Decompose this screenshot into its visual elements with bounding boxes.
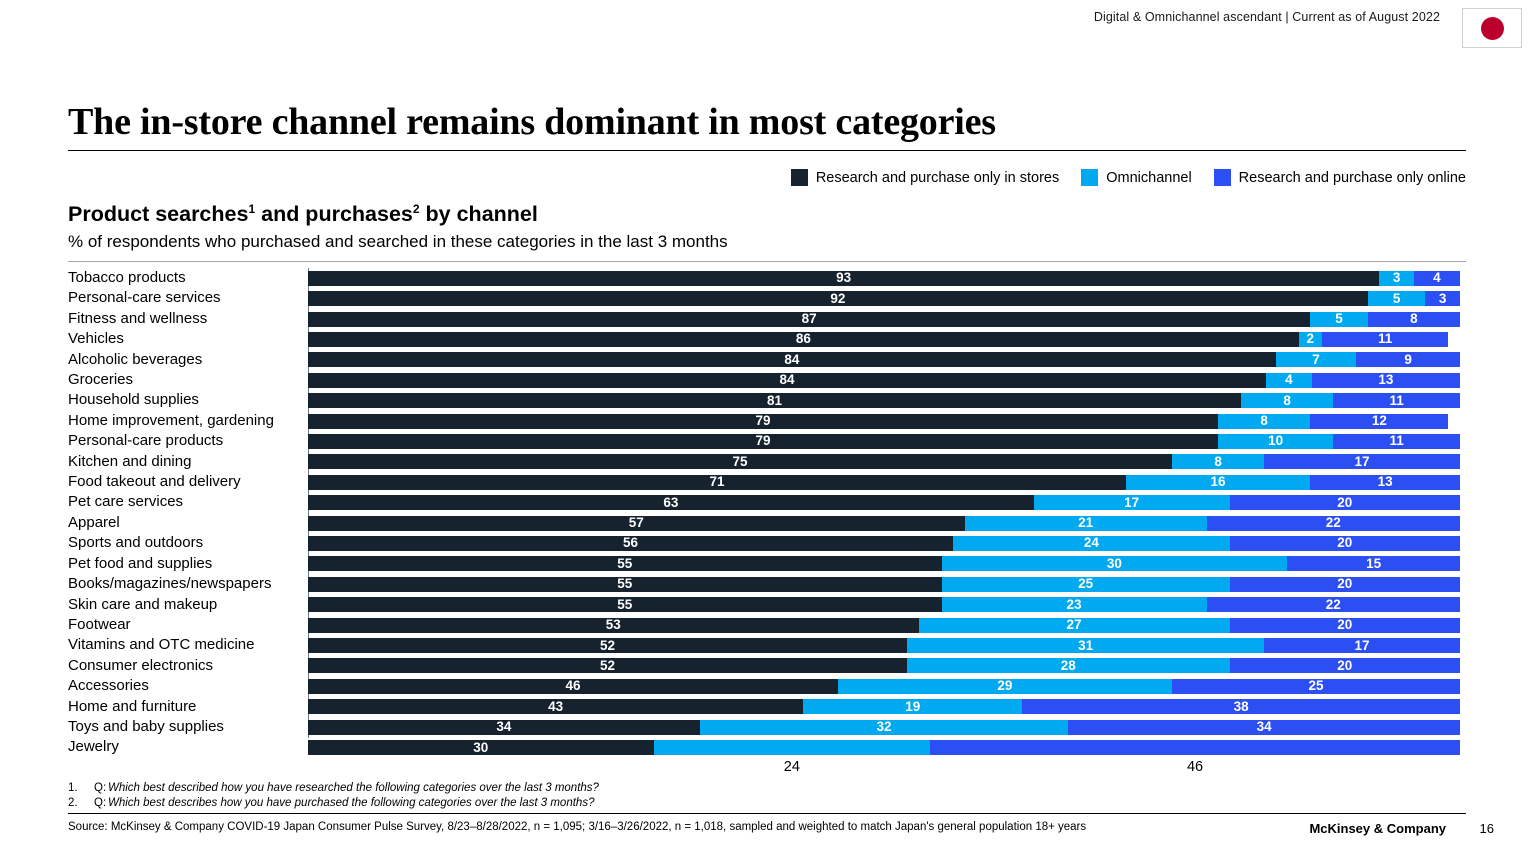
bar-segment-omni[interactable]: 8 xyxy=(1172,454,1264,469)
bar-value-label: 29 xyxy=(995,679,1014,693)
bar-segment-online[interactable]: 17 xyxy=(1264,638,1460,653)
bar-value-label: 4 xyxy=(1431,271,1443,285)
category-label: Apparel xyxy=(68,513,300,533)
bar-segment-omni[interactable]: 19 xyxy=(803,699,1022,714)
subtitle-part-2: and purchases xyxy=(255,202,413,226)
bar-segment-stores[interactable]: 71 xyxy=(308,475,1126,490)
chart-legend: Research and purchase only in storesOmni… xyxy=(791,169,1466,186)
bar-row[interactable]: 572122 xyxy=(308,513,1460,533)
bar-row[interactable]: 711613 xyxy=(308,472,1460,492)
bar-segment-stores[interactable]: 46 xyxy=(308,679,838,694)
bar-segment-online[interactable]: 20 xyxy=(1230,495,1460,510)
bar-value-label: 63 xyxy=(661,496,680,510)
bar-segment-online[interactable]: 13 xyxy=(1310,475,1460,490)
bar-segment-stores[interactable]: 75 xyxy=(308,454,1172,469)
legend-label: Research and purchase only online xyxy=(1239,170,1466,186)
bar-value-label: 5 xyxy=(1391,292,1403,306)
bar-segment-stores[interactable]: 79 xyxy=(308,414,1218,429)
category-label: Pet care services xyxy=(68,492,300,512)
bar-value-label: 22 xyxy=(1324,598,1343,612)
bar-value-label: 8 xyxy=(1408,312,1420,326)
bar-value-label: 75 xyxy=(730,455,749,469)
bar-value-label: 15 xyxy=(1364,557,1383,571)
category-label: Books/magazines/newspapers xyxy=(68,574,300,594)
bar-value-label: 23 xyxy=(1065,598,1084,612)
bar-value-label: 11 xyxy=(1387,434,1405,448)
bar-value-label: 17 xyxy=(1353,639,1372,653)
bar-value-label: 46 xyxy=(1185,760,1205,774)
category-label: Food takeout and delivery xyxy=(68,472,300,492)
category-label: Skin care and makeup xyxy=(68,595,300,615)
stacked-bar-chart: Tobacco productsPersonal-care servicesFi… xyxy=(68,268,1466,758)
bar-segment-stores[interactable]: 84 xyxy=(308,373,1266,388)
bar-row[interactable]: 302446 xyxy=(308,737,1460,757)
bar-segment-online[interactable]: 9 xyxy=(1356,352,1460,367)
bar-row[interactable]: 431938 xyxy=(308,697,1460,717)
bar-row[interactable]: 552520 xyxy=(308,574,1460,594)
bar-segment-omni[interactable]: 32 xyxy=(700,720,1069,735)
bar-value-label: 3 xyxy=(1437,292,1449,306)
bar-segment-online[interactable]: 11 xyxy=(1333,434,1460,449)
bar-value-label: 52 xyxy=(598,659,617,673)
bar-segment-stores[interactable]: 30 xyxy=(308,740,654,755)
bar-row[interactable]: 552322 xyxy=(308,595,1460,615)
bar-value-label: 28 xyxy=(1059,659,1078,673)
bar-segment-omni[interactable]: 2 xyxy=(1299,332,1322,347)
bar-value-label: 3 xyxy=(1391,271,1403,285)
bar-row[interactable]: 9334 xyxy=(308,268,1460,288)
footnote-text: Which best described how you have resear… xyxy=(108,781,599,796)
bar-row[interactable]: 81811 xyxy=(308,390,1460,410)
bar-segment-online[interactable]: 22 xyxy=(1207,516,1460,531)
bar-segment-online[interactable]: 38 xyxy=(1022,699,1460,714)
bar-segment-online[interactable]: 46 xyxy=(930,740,1460,755)
bar-row[interactable]: 553015 xyxy=(308,554,1460,574)
bar-row[interactable]: 532720 xyxy=(308,615,1460,635)
bar-row[interactable]: 8479 xyxy=(308,350,1460,370)
legend-label: Research and purchase only in stores xyxy=(816,170,1059,186)
bar-value-label: 8 xyxy=(1212,455,1224,469)
bar-segment-omni[interactable]: 24 xyxy=(654,740,930,755)
bar-value-label: 84 xyxy=(782,353,801,367)
brand-label: McKinsey & Company xyxy=(1309,821,1446,836)
bar-segment-omni[interactable]: 31 xyxy=(907,638,1264,653)
bar-row[interactable]: 631720 xyxy=(308,492,1460,512)
bar-value-label: 20 xyxy=(1335,659,1354,673)
bar-value-label: 8 xyxy=(1258,414,1270,428)
bar-segment-stores[interactable]: 63 xyxy=(308,495,1034,510)
bar-segment-stores[interactable]: 86 xyxy=(308,332,1299,347)
bar-segment-stores[interactable]: 55 xyxy=(308,556,942,571)
subtitle-part-1: Product searches xyxy=(68,202,248,226)
bar-segment-stores[interactable]: 81 xyxy=(308,393,1241,408)
category-label: Personal-care services xyxy=(68,288,300,308)
bar-row[interactable]: 343234 xyxy=(308,717,1460,737)
bar-value-label: 11 xyxy=(1376,332,1394,346)
bar-segment-stores[interactable]: 53 xyxy=(308,618,919,633)
chart-description: % of respondents who purchased and searc… xyxy=(68,232,728,252)
legend-label: Omnichannel xyxy=(1106,170,1191,186)
bar-value-label: 52 xyxy=(598,639,617,653)
bar-value-label: 13 xyxy=(1376,475,1395,489)
legend-item-1: Omnichannel xyxy=(1081,169,1191,186)
category-axis-labels: Tobacco productsPersonal-care servicesFi… xyxy=(68,268,300,758)
bar-value-label: 8 xyxy=(1281,394,1293,408)
subtitle-divider xyxy=(68,261,1466,262)
category-label: Footwear xyxy=(68,615,300,635)
bar-value-label: 20 xyxy=(1335,577,1354,591)
bar-row[interactable]: 523117 xyxy=(308,635,1460,655)
bar-segment-stores[interactable]: 56 xyxy=(308,536,953,551)
bar-segment-stores[interactable]: 55 xyxy=(308,597,942,612)
footnote-1: 1.Q:Which best described how you have re… xyxy=(68,781,599,796)
category-label: Alcoholic beverages xyxy=(68,350,300,370)
legend-item-2: Research and purchase only online xyxy=(1214,169,1466,186)
bar-row[interactable]: 8758 xyxy=(308,309,1460,329)
bar-segment-omni[interactable]: 5 xyxy=(1368,291,1426,306)
bar-value-label: 11 xyxy=(1387,394,1405,408)
category-label: Groceries xyxy=(68,370,300,390)
bar-row[interactable]: 86211 xyxy=(308,329,1460,349)
category-label: Accessories xyxy=(68,676,300,696)
bar-segment-online[interactable]: 20 xyxy=(1230,658,1460,673)
bar-value-label: 86 xyxy=(794,332,813,346)
bar-row[interactable]: 562420 xyxy=(308,533,1460,553)
bar-value-label: 87 xyxy=(800,312,819,326)
bar-segment-stores[interactable]: 34 xyxy=(308,720,700,735)
bar-segment-stores[interactable]: 43 xyxy=(308,699,803,714)
bar-value-label: 9 xyxy=(1402,353,1414,367)
category-label: Personal-care products xyxy=(68,431,300,451)
bar-value-label: 19 xyxy=(903,700,922,714)
footnote-q-prefix: Q: xyxy=(94,796,108,811)
bar-segment-omni[interactable]: 4 xyxy=(1266,373,1312,388)
bar-value-label: 31 xyxy=(1076,639,1095,653)
footnote-text: Which best describes how you have purcha… xyxy=(108,796,594,811)
bar-value-label: 22 xyxy=(1324,516,1343,530)
bar-segment-stores[interactable]: 84 xyxy=(308,352,1276,367)
bar-value-label: 25 xyxy=(1306,679,1325,693)
bar-value-label: 17 xyxy=(1353,455,1372,469)
bar-row[interactable]: 79812 xyxy=(308,411,1460,431)
page-title: The in-store channel remains dominant in… xyxy=(68,100,996,144)
bar-value-label: 57 xyxy=(627,516,646,530)
category-label: Vehicles xyxy=(68,329,300,349)
bar-segment-omni[interactable]: 23 xyxy=(942,597,1207,612)
legend-swatch-icon xyxy=(1214,169,1231,186)
category-label: Home and furniture xyxy=(68,697,300,717)
bar-segment-online[interactable]: 4 xyxy=(1414,271,1460,286)
category-label: Kitchen and dining xyxy=(68,452,300,472)
bar-segment-stores[interactable]: 52 xyxy=(308,658,907,673)
category-label: Consumer electronics xyxy=(68,656,300,676)
bar-value-label: 2 xyxy=(1304,332,1316,346)
bar-value-label: 13 xyxy=(1376,373,1395,387)
title-divider xyxy=(68,150,1466,151)
bar-segment-stores[interactable]: 55 xyxy=(308,577,942,592)
bar-segment-online[interactable]: 11 xyxy=(1333,393,1460,408)
bar-segment-stores[interactable]: 79 xyxy=(308,434,1218,449)
bar-segment-online[interactable]: 3 xyxy=(1425,291,1460,306)
bar-value-label: 79 xyxy=(754,434,773,448)
category-label: Home improvement, gardening xyxy=(68,411,300,431)
bar-segment-stores[interactable]: 52 xyxy=(308,638,907,653)
bar-segment-online[interactable]: 34 xyxy=(1068,720,1460,735)
bar-segment-stores[interactable]: 57 xyxy=(308,516,965,531)
bar-value-label: 4 xyxy=(1283,373,1295,387)
category-label: Toys and baby supplies xyxy=(68,717,300,737)
plot-area: 9334925387588621184798441381811798127910… xyxy=(308,268,1460,758)
bar-segment-stores[interactable]: 93 xyxy=(308,271,1379,286)
bar-value-label: 24 xyxy=(782,760,802,774)
legend-item-0: Research and purchase only in stores xyxy=(791,169,1059,186)
bar-value-label: 21 xyxy=(1076,516,1095,530)
bar-value-label: 20 xyxy=(1335,536,1354,550)
bar-value-label: 71 xyxy=(707,475,726,489)
bar-segment-omni[interactable]: 28 xyxy=(907,658,1230,673)
category-label: Sports and outdoors xyxy=(68,533,300,553)
japan-flag-icon xyxy=(1462,8,1522,48)
bar-value-label: 17 xyxy=(1122,496,1141,510)
bar-value-label: 30 xyxy=(1105,557,1124,571)
bar-row[interactable]: 462925 xyxy=(308,676,1460,696)
bar-segment-omni[interactable]: 8 xyxy=(1218,414,1310,429)
bar-segment-online[interactable]: 25 xyxy=(1172,679,1460,694)
slide: Digital & Omnichannel ascendant | Curren… xyxy=(0,0,1536,864)
bar-value-label: 30 xyxy=(471,741,490,755)
bar-segment-omni[interactable]: 16 xyxy=(1126,475,1310,490)
legend-swatch-icon xyxy=(1081,169,1098,186)
bar-row[interactable]: 75817 xyxy=(308,452,1460,472)
legend-swatch-icon xyxy=(791,169,808,186)
category-label: Vitamins and OTC medicine xyxy=(68,635,300,655)
category-label: Household supplies xyxy=(68,390,300,410)
bar-value-label: 12 xyxy=(1370,414,1389,428)
bar-value-label: 16 xyxy=(1209,475,1228,489)
header-kicker: Digital & Omnichannel ascendant | Curren… xyxy=(1094,10,1440,24)
bar-value-label: 46 xyxy=(563,679,582,693)
footnote-number: 1. xyxy=(68,781,94,796)
bar-value-label: 10 xyxy=(1266,434,1285,448)
bar-segment-omni[interactable]: 24 xyxy=(953,536,1229,551)
footnote-2: 2.Q:Which best describes how you have pu… xyxy=(68,796,599,811)
bar-value-label: 55 xyxy=(615,577,634,591)
footnote-number: 2. xyxy=(68,796,94,811)
category-label: Fitness and wellness xyxy=(68,309,300,329)
footnotes: 1.Q:Which best described how you have re… xyxy=(68,781,599,811)
bar-segment-online[interactable]: 20 xyxy=(1230,577,1460,592)
bar-segment-omni[interactable]: 25 xyxy=(942,577,1230,592)
bar-value-label: 43 xyxy=(546,700,565,714)
bar-segment-omni[interactable]: 3 xyxy=(1379,271,1414,286)
bar-segment-stores[interactable]: 92 xyxy=(308,291,1368,306)
bar-segment-online[interactable]: 22 xyxy=(1207,597,1460,612)
page-number: 16 xyxy=(1480,821,1494,836)
bar-segment-online[interactable]: 8 xyxy=(1368,312,1460,327)
bar-segment-omni[interactable]: 10 xyxy=(1218,434,1333,449)
bar-row[interactable]: 9253 xyxy=(308,288,1460,308)
bar-value-label: 24 xyxy=(1082,536,1101,550)
bar-value-label: 84 xyxy=(778,373,797,387)
chart-subtitle: Product searches1 and purchases2 by chan… xyxy=(68,202,538,227)
bar-segment-omni[interactable]: 30 xyxy=(942,556,1288,571)
bar-value-label: 7 xyxy=(1310,353,1322,367)
bar-value-label: 27 xyxy=(1065,618,1084,632)
subtitle-part-3: by channel xyxy=(420,202,538,226)
bar-value-label: 93 xyxy=(834,271,853,285)
bar-segment-omni[interactable]: 5 xyxy=(1310,312,1368,327)
bar-value-label: 5 xyxy=(1333,312,1345,326)
bar-row[interactable]: 84413 xyxy=(308,370,1460,390)
bar-value-label: 38 xyxy=(1232,700,1251,714)
bar-segment-omni[interactable]: 29 xyxy=(838,679,1172,694)
bar-value-label: 55 xyxy=(615,598,634,612)
bar-value-label: 34 xyxy=(1255,720,1274,734)
bar-segment-online[interactable]: 15 xyxy=(1287,556,1460,571)
bar-value-label: 34 xyxy=(494,720,513,734)
category-label: Pet food and supplies xyxy=(68,554,300,574)
bar-segment-online[interactable]: 20 xyxy=(1230,536,1460,551)
category-label: Jewelry xyxy=(68,737,300,757)
bar-segment-online[interactable]: 17 xyxy=(1264,454,1460,469)
bar-segment-online[interactable]: 20 xyxy=(1230,618,1460,633)
bar-segment-omni[interactable]: 21 xyxy=(965,516,1207,531)
bar-segment-omni[interactable]: 7 xyxy=(1276,352,1357,367)
bar-value-label: 92 xyxy=(828,292,847,306)
bar-value-label: 81 xyxy=(765,394,784,408)
bar-segment-online[interactable]: 13 xyxy=(1312,373,1460,388)
bar-segment-omni[interactable]: 17 xyxy=(1034,495,1230,510)
source-note: Source: McKinsey & Company COVID-19 Japa… xyxy=(68,821,1086,833)
bar-value-label: 20 xyxy=(1335,618,1354,632)
bar-value-label: 53 xyxy=(604,618,623,632)
bar-value-label: 25 xyxy=(1076,577,1095,591)
bar-value-label: 20 xyxy=(1335,496,1354,510)
bar-value-label: 55 xyxy=(615,557,634,571)
bar-value-label: 56 xyxy=(621,536,640,550)
bar-segment-omni[interactable]: 8 xyxy=(1241,393,1333,408)
footer-divider xyxy=(68,813,1466,814)
category-label: Tobacco products xyxy=(68,268,300,288)
bar-segment-online[interactable]: 12 xyxy=(1310,414,1448,429)
subtitle-footnote-marker-2: 2 xyxy=(413,202,420,216)
bar-segment-online[interactable]: 11 xyxy=(1322,332,1449,347)
flag-disc xyxy=(1481,17,1504,40)
bar-segment-omni[interactable]: 27 xyxy=(919,618,1230,633)
bar-value-label: 79 xyxy=(754,414,773,428)
bar-value-label: 32 xyxy=(874,720,893,734)
bar-row[interactable]: 522820 xyxy=(308,656,1460,676)
footnote-q-prefix: Q: xyxy=(94,781,108,796)
bar-segment-stores[interactable]: 87 xyxy=(308,312,1310,327)
bar-row[interactable]: 791011 xyxy=(308,431,1460,451)
